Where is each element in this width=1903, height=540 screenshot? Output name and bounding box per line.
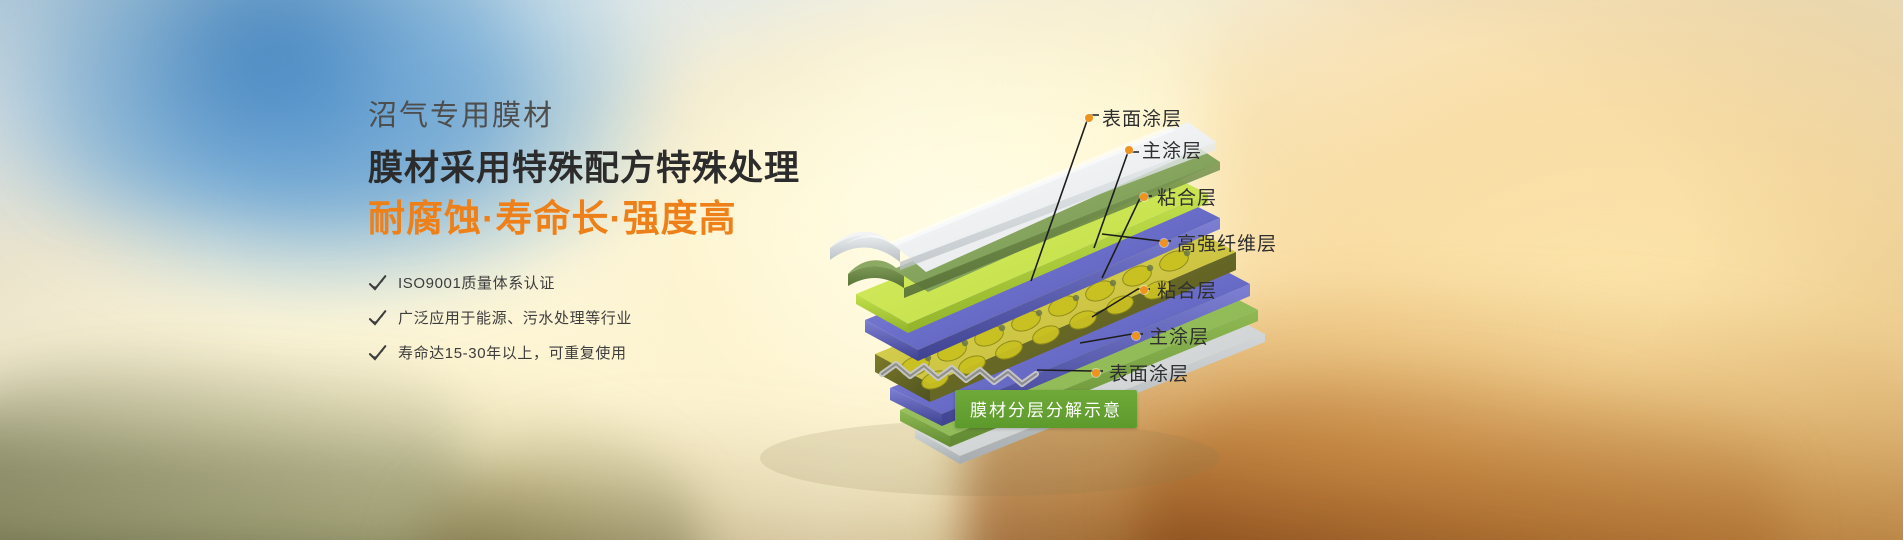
banner-root: 沼气专用膜材 膜材采用特殊配方特殊处理 耐腐蚀·寿命长·强度高 ISO9001质…	[0, 0, 1903, 540]
check-icon	[368, 274, 387, 293]
callout-label: 粘合层	[1157, 276, 1217, 303]
list-item-label: ISO9001质量体系认证	[398, 276, 555, 291]
callout-label: 粘合层	[1157, 183, 1217, 210]
bullet-dot-icon	[1132, 332, 1140, 340]
callout-label: 表面涂层	[1102, 104, 1182, 131]
bullet-dot-icon	[1160, 239, 1168, 247]
callout-label: 表面涂层	[1109, 359, 1189, 386]
callout-main-coating-bottom: 主涂层	[1132, 322, 1209, 349]
callout-surface-coating-top: 表面涂层	[1085, 104, 1182, 131]
list-item-label: 广泛应用于能源、污水处理等行业	[398, 311, 632, 326]
callout-high-strength-fiber: 高强纤维层	[1160, 229, 1277, 256]
membrane-diagram-svg	[660, 58, 1400, 508]
callout-adhesive-bottom: 粘合层	[1140, 276, 1217, 303]
diagram-caption-badge: 膜材分层分解示意	[955, 390, 1137, 428]
check-icon	[368, 309, 387, 328]
bullet-dot-icon	[1140, 286, 1148, 294]
list-item-label: 寿命达15-30年以上，可重复使用	[398, 346, 627, 361]
callout-adhesive-top: 粘合层	[1140, 183, 1217, 210]
bullet-dot-icon	[1125, 146, 1133, 154]
callout-label: 高强纤维层	[1177, 229, 1277, 256]
membrane-layer-diagram	[660, 58, 1400, 508]
bullet-dot-icon	[1140, 193, 1148, 201]
bullet-dot-icon	[1085, 114, 1093, 122]
check-icon	[368, 344, 387, 363]
callout-surface-coating-bottom: 表面涂层	[1092, 359, 1189, 386]
callout-label: 主涂层	[1142, 136, 1202, 163]
callout-main-coating-top: 主涂层	[1125, 136, 1202, 163]
callout-label: 主涂层	[1149, 322, 1209, 349]
bullet-dot-icon	[1092, 369, 1100, 377]
